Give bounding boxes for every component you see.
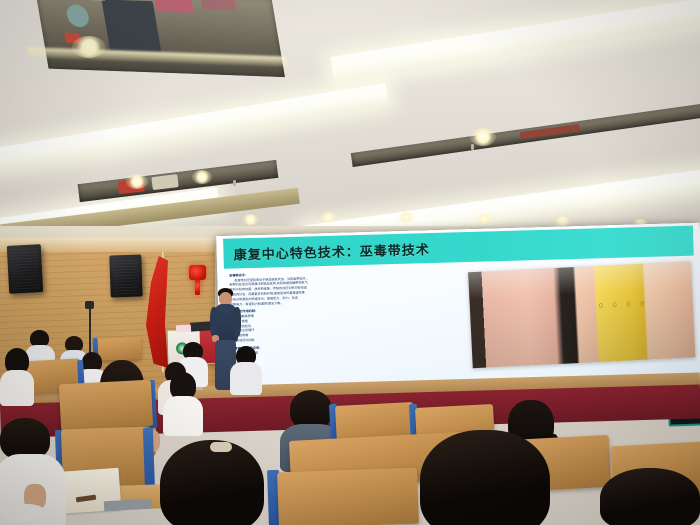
audience-member-back-5 xyxy=(230,346,262,394)
audience-member-front-left xyxy=(0,418,66,525)
slide-title: 康复中心特色技术：巫毒带技术 xyxy=(223,239,429,264)
chinese-knot-tassel-icon xyxy=(195,279,200,295)
ceiling-downlight-3 xyxy=(126,174,148,189)
wall-speaker-right xyxy=(109,254,142,297)
audience-forearm xyxy=(2,504,44,520)
microphone-head-icon xyxy=(85,301,94,309)
soffit-downlight-2 xyxy=(320,212,337,223)
audience-member-front-right xyxy=(420,430,550,525)
ceiling-light-strip-2 xyxy=(0,83,389,176)
ceiling-downlight-4 xyxy=(192,170,212,184)
slide-photo-shading xyxy=(468,262,695,369)
lecture-hall-screenshot: 康复中心特色技术：巫毒带技术 巫毒带技术： 巫毒带加压使肌肉处于缺血缺氧状态，当… xyxy=(0,0,700,525)
slide-photo-legs-with-band: 0 0 0 0 xyxy=(468,262,695,369)
hair-tie xyxy=(210,442,232,452)
audience-member-front-far-right xyxy=(600,468,700,525)
presenter-arm-left xyxy=(210,307,218,337)
podium-laptop xyxy=(190,321,213,332)
ceiling-light-strip-1 xyxy=(331,0,700,83)
chinese-knot-decor-icon xyxy=(189,265,206,280)
wall-speaker-left xyxy=(7,244,43,294)
soffit-downlight-4 xyxy=(476,213,493,224)
podium-paper xyxy=(176,325,191,333)
seat-back-front-c[interactable] xyxy=(277,468,419,525)
sprinkler-icon-2 xyxy=(471,144,474,150)
ceiling xyxy=(0,0,700,248)
seat-frame-bracket xyxy=(104,499,152,511)
presenter-arm-right xyxy=(233,307,241,337)
soffit-downlight-3 xyxy=(398,212,415,223)
slide-body-text: 巫毒带技术： 巫毒带加压使肌肉处于缺血缺氧状态，当巫毒带松开， 新鲜的血液会迅速… xyxy=(229,267,459,370)
audience-member-front-center xyxy=(160,440,264,525)
ceiling-recess-left xyxy=(35,0,285,77)
audience-member-mid-3 xyxy=(163,372,203,434)
soffit-downlight-1 xyxy=(242,214,259,225)
sprinkler-icon xyxy=(233,180,236,186)
ceiling-downlight-2 xyxy=(470,128,496,146)
audience-member-mid-1 xyxy=(0,348,34,404)
seat-back-row2-a[interactable] xyxy=(59,380,153,431)
